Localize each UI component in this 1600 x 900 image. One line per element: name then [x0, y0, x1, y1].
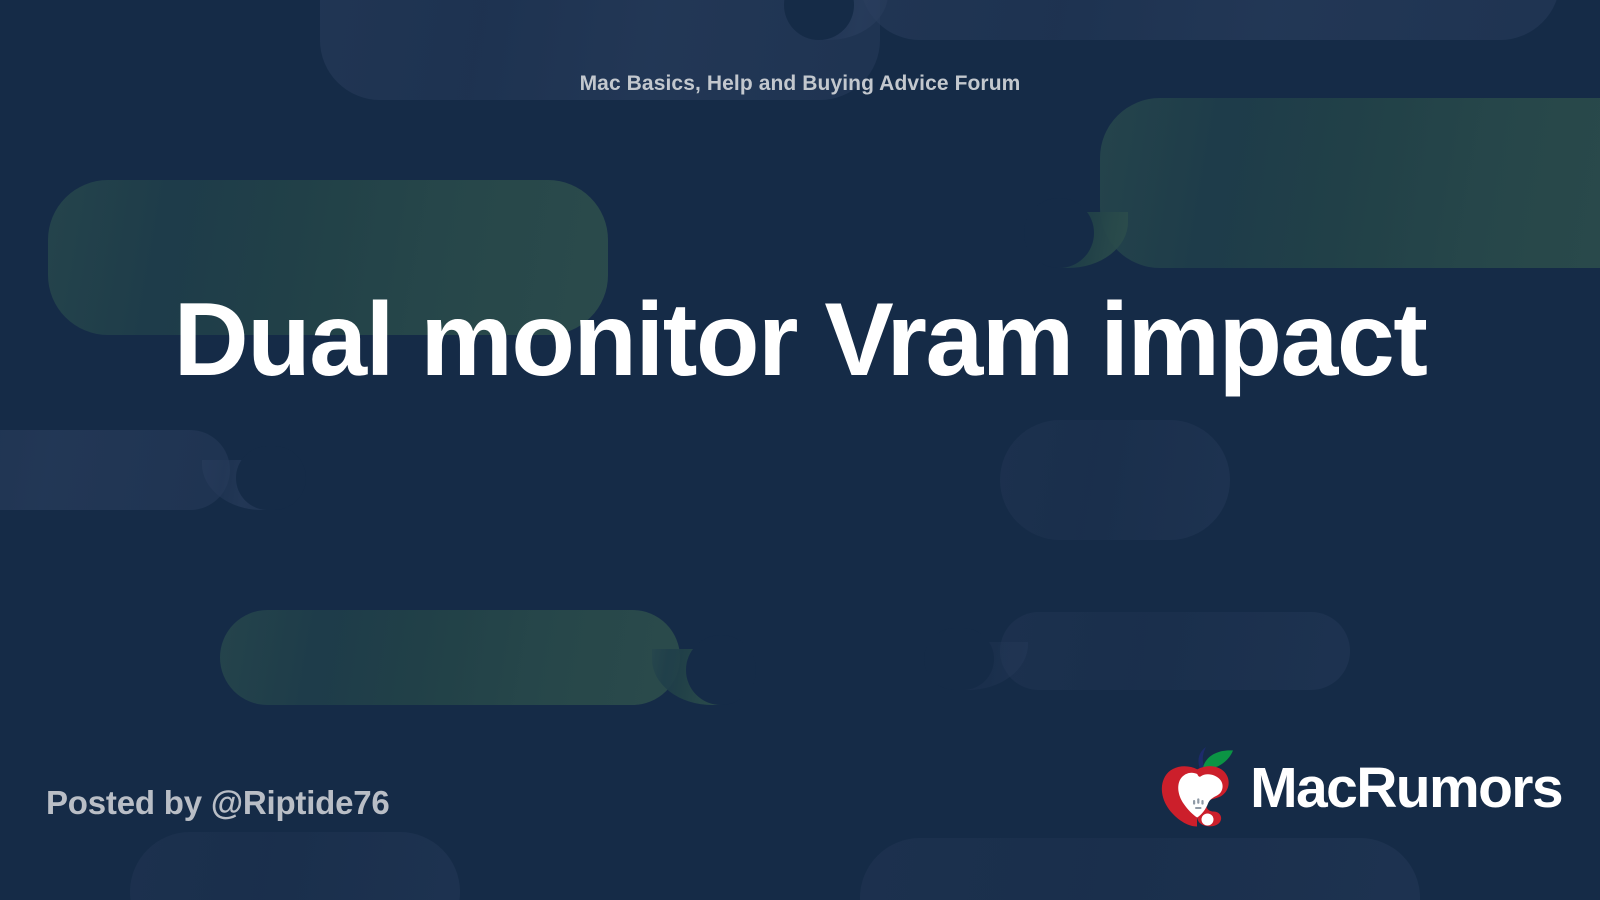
posted-by-label: Posted by @Riptide76 [46, 784, 390, 822]
macrumors-wordmark: MacRumors [1250, 760, 1562, 817]
card-content: Mac Basics, Help and Buying Advice Forum… [0, 0, 1600, 900]
title-container: Dual monitor Vram impact [120, 280, 1480, 401]
forum-label: Mac Basics, Help and Buying Advice Forum [0, 72, 1600, 96]
macrumors-brand: MacRumors [1152, 743, 1562, 834]
page-title: Dual monitor Vram impact [120, 280, 1480, 401]
macrumors-apple-logo-icon [1152, 743, 1244, 834]
social-share-card: Mac Basics, Help and Buying Advice Forum… [0, 0, 1600, 900]
